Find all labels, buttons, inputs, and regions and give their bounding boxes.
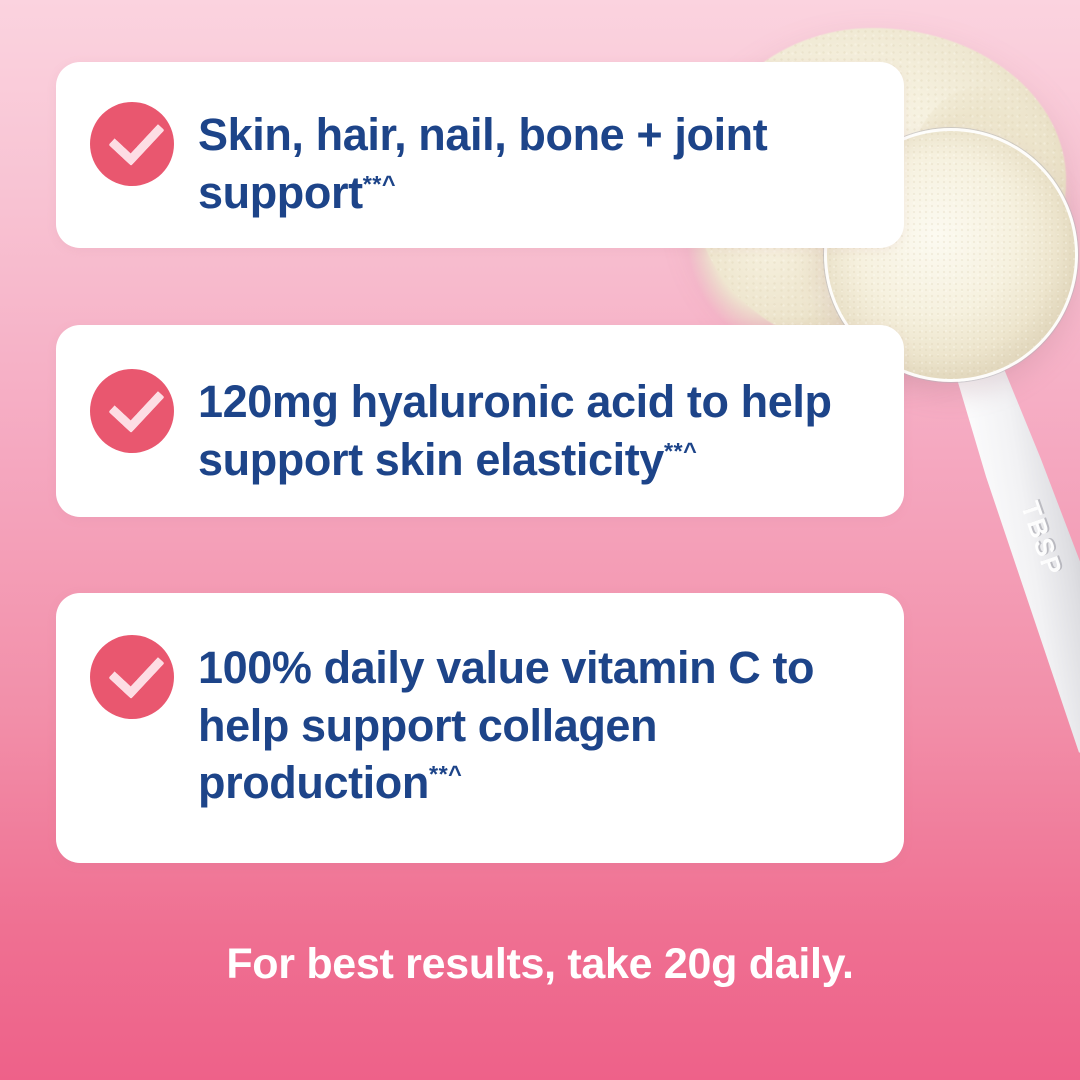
check-circle-icon bbox=[90, 102, 174, 186]
check-mark-icon bbox=[108, 642, 164, 699]
benefit-superscript: **^ bbox=[429, 761, 462, 787]
promo-graphic: TBSP Skin, hair, nail, bone + joint supp… bbox=[0, 0, 1080, 1080]
check-mark-icon bbox=[108, 376, 164, 433]
benefit-card-hyaluronic-acid: 120mg hyaluronic acid to help support sk… bbox=[56, 325, 904, 517]
benefit-superscript: **^ bbox=[664, 438, 697, 464]
measuring-scoop-handle: TBSP bbox=[879, 198, 1080, 759]
check-circle-icon bbox=[90, 369, 174, 453]
check-mark-icon bbox=[108, 109, 164, 166]
check-circle-icon bbox=[90, 635, 174, 719]
dosage-footnote: For best results, take 20g daily. bbox=[0, 940, 1080, 989]
benefit-text: 100% daily value vitamin C to help suppo… bbox=[198, 635, 858, 812]
benefit-text: 120mg hyaluronic acid to help support sk… bbox=[198, 369, 838, 488]
benefit-list: Skin, hair, nail, bone + joint support**… bbox=[56, 62, 904, 863]
benefit-text-body: Skin, hair, nail, bone + joint support bbox=[198, 109, 767, 218]
benefit-text-body: 120mg hyaluronic acid to help support sk… bbox=[198, 376, 832, 485]
benefit-text: Skin, hair, nail, bone + joint support**… bbox=[198, 102, 838, 221]
benefit-text-body: 100% daily value vitamin C to help suppo… bbox=[198, 642, 814, 808]
benefit-card-vitamin-c: 100% daily value vitamin C to help suppo… bbox=[56, 593, 904, 863]
scoop-engraving-label: TBSP bbox=[1015, 497, 1069, 580]
benefit-superscript: **^ bbox=[363, 171, 396, 197]
benefit-card-skin-hair-nail-bone-joint: Skin, hair, nail, bone + joint support**… bbox=[56, 62, 904, 248]
